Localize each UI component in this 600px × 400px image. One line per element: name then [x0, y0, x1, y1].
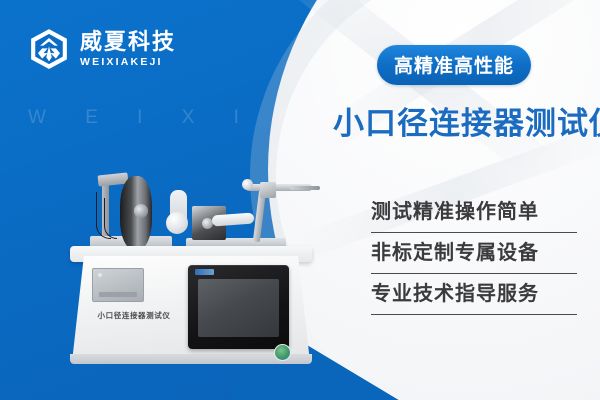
list-item: 专业技术指导服务	[371, 280, 577, 315]
product-banner: 威夏科技 WEIXIAKEJI W E I X I A K E J I 高精准高…	[0, 0, 600, 400]
hexagon-arrow-logo-icon	[27, 27, 71, 71]
headline-badge: 高精准高性能	[377, 45, 531, 85]
screen-display[interactable]	[198, 279, 279, 337]
brand-name-cn: 威夏科技	[80, 31, 176, 53]
page-title: 小口径连接器测试仪	[333, 98, 600, 143]
list-item: 测试精准操作简单	[371, 198, 577, 233]
machine-cable	[104, 198, 117, 239]
machine-front-label: 小口径连接器测试仪	[74, 310, 194, 321]
list-item: 非标定制专属设备	[371, 239, 577, 274]
fixture-probe-rod	[290, 186, 320, 190]
fixture-end-cap	[242, 179, 253, 190]
brand-name-en: WEIXIAKEJI	[80, 57, 176, 68]
feature-divider	[371, 232, 577, 233]
feature-divider	[371, 273, 577, 274]
feature-label: 专业技术指导服务	[371, 280, 577, 309]
machine-left-panel	[92, 268, 144, 302]
fixture-disc	[166, 212, 188, 234]
feature-list: 测试精准操作简单 非标定制专属设备 专业技术指导服务	[371, 198, 577, 321]
feature-label: 测试精准操作简单	[371, 198, 577, 227]
fixture-tube	[212, 213, 255, 227]
screen-brand-label	[195, 269, 214, 275]
fixture-bracket	[260, 182, 276, 198]
product-image: 小口径连接器测试仪	[60, 168, 322, 370]
certification-sticker	[274, 344, 291, 361]
feature-divider	[371, 314, 577, 315]
feature-label: 非标定制专属设备	[371, 239, 577, 268]
brand-logo-text: 威夏科技 WEIXIAKEJI	[80, 31, 176, 68]
wheel-hub	[134, 204, 148, 218]
hmi-touchscreen[interactable]	[188, 265, 289, 349]
brand-logo: 威夏科技 WEIXIAKEJI	[27, 27, 176, 71]
